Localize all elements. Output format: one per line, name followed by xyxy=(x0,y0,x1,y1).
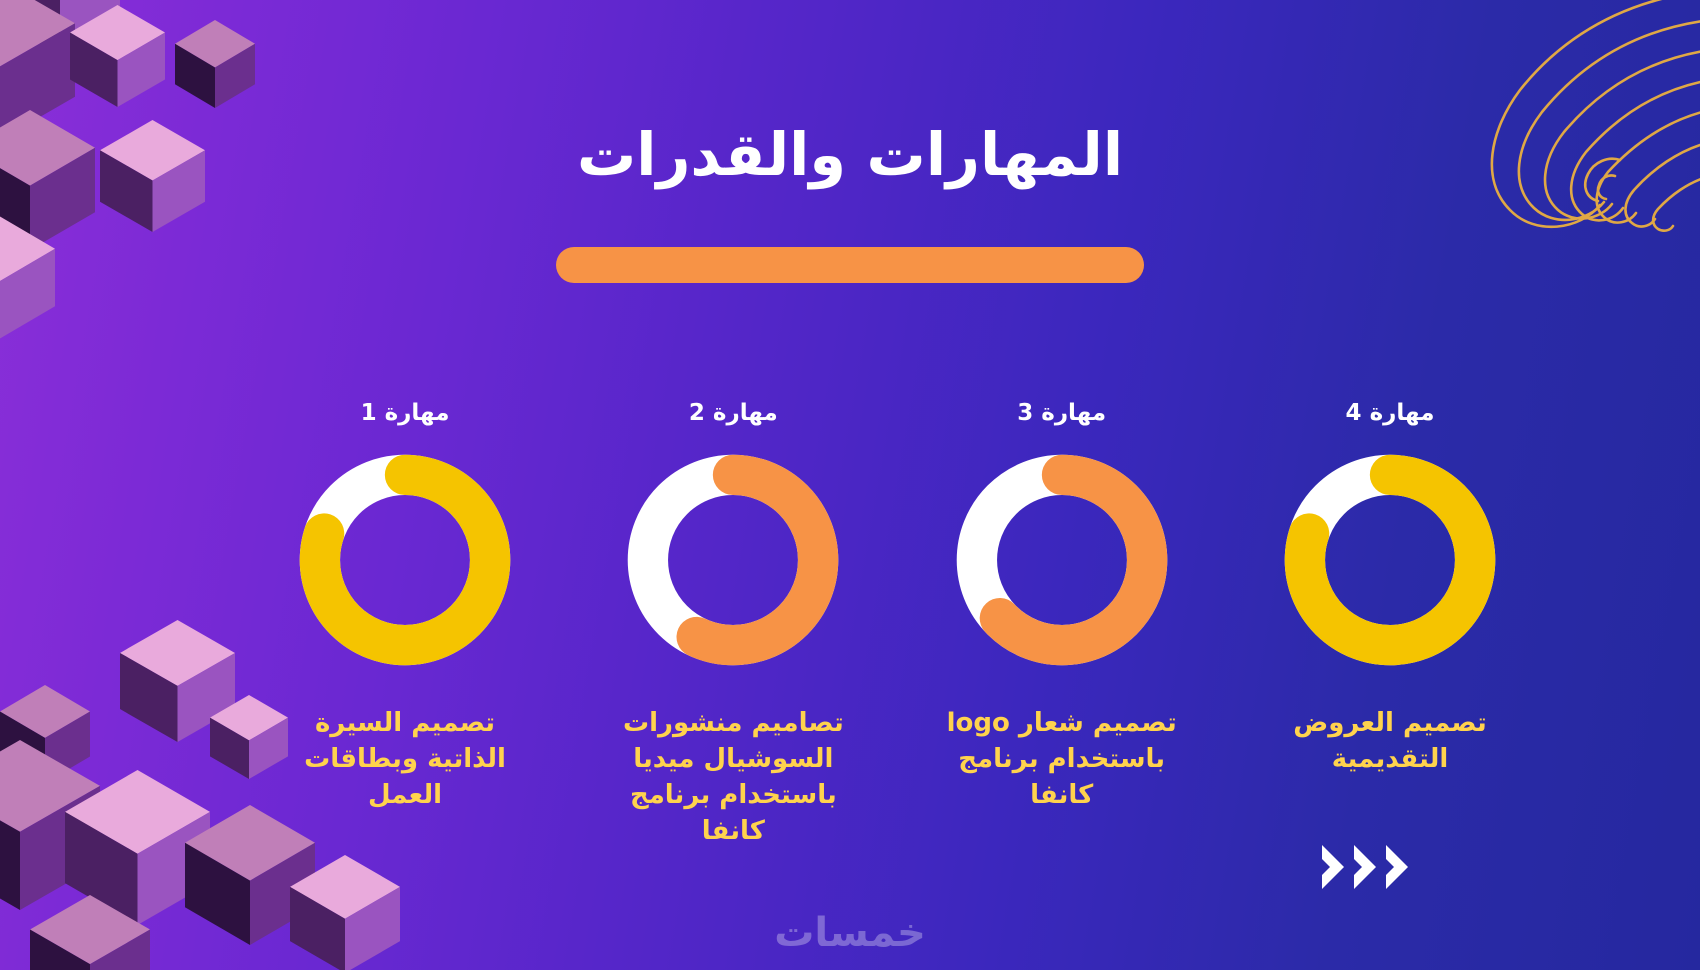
watermark: خمسات xyxy=(774,910,926,956)
skill-description-2: تصاميم منشورات السوشيال ميديا باستخدام ب… xyxy=(602,706,864,850)
donut-chart-2 xyxy=(621,448,845,672)
title-accent-bar xyxy=(556,247,1144,283)
donut-svg-4 xyxy=(1278,448,1502,672)
donut-chart-1 xyxy=(293,448,517,672)
skill-index-2: مهارة 2 xyxy=(689,400,778,426)
skill-card-2: مهارة 2 تصاميم منشورات السوشيال ميديا با… xyxy=(583,400,883,850)
skill-description-4: تصميم العروض التقديمية xyxy=(1259,706,1521,778)
skill-index-1: مهارة 1 xyxy=(361,400,450,426)
chevron-right-icon-1 xyxy=(1384,845,1410,889)
donut-chart-4 xyxy=(1278,448,1502,672)
skill-card-1: مهارة 1 تصميم السيرة الذاتية وبطاقات الع… xyxy=(255,400,555,814)
chevron-right-icon-2 xyxy=(1352,845,1378,889)
donut-chart-3 xyxy=(950,448,1174,672)
skill-index-4: مهارة 4 xyxy=(1346,400,1435,426)
skill-description-3: تصميم شعار logo باستخدام برنامج كانفا xyxy=(931,706,1193,814)
slide-root: المهارات والقدرات مهارة 1 تصميم السيرة ا… xyxy=(0,0,1700,970)
skill-card-3: مهارة 3 تصميم شعار logo باستخدام برنامج … xyxy=(912,400,1212,814)
donut-svg-2 xyxy=(621,448,845,672)
skill-index-3: مهارة 3 xyxy=(1017,400,1106,426)
page-title: المهارات والقدرات xyxy=(0,120,1700,189)
double-chevron-right-icon xyxy=(1320,845,1410,889)
skill-description-1: تصميم السيرة الذاتية وبطاقات العمل xyxy=(274,706,536,814)
chevron-right-icon-3 xyxy=(1320,845,1346,889)
donut-svg-3 xyxy=(950,448,1174,672)
donut-svg-1 xyxy=(293,448,517,672)
skills-row: مهارة 1 تصميم السيرة الذاتية وبطاقات الع… xyxy=(255,400,1540,850)
skill-card-4: مهارة 4 تصميم العروض التقديمية xyxy=(1240,400,1540,778)
